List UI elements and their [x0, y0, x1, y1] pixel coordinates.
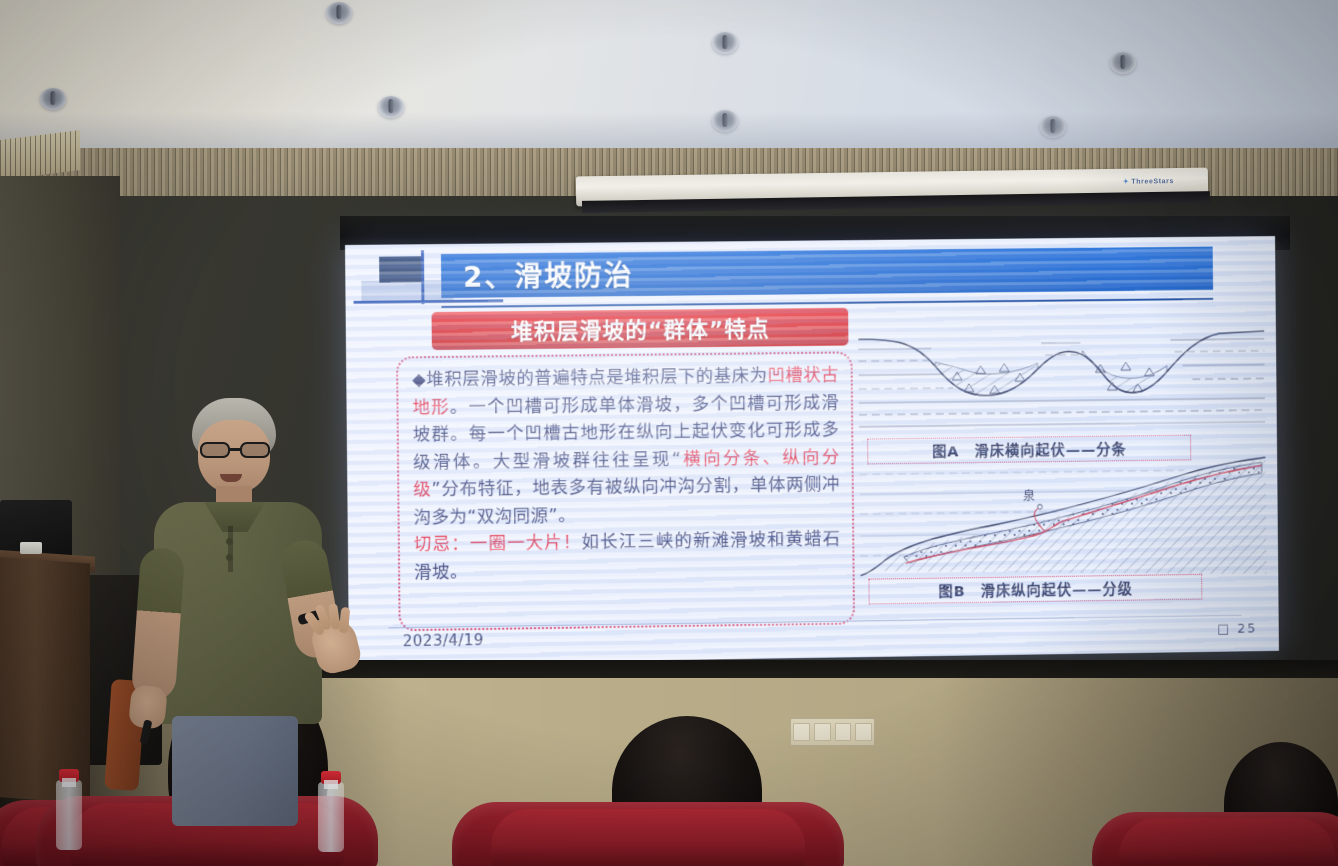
ceiling — [0, 0, 1338, 152]
wall-outlet-plate[interactable] — [790, 718, 875, 746]
presenter-polo-button — [226, 554, 233, 561]
ceiling-downlight — [40, 88, 66, 110]
ceiling-downlight — [1110, 52, 1136, 74]
ceiling-downlight — [378, 96, 404, 118]
lecture-hall-photo: ✦ThreeStars 2、滑坡防治 堆积层滑坡的“群体”特点 ◆堆积层滑坡的普… — [0, 0, 1338, 866]
presenter-glasses — [198, 442, 272, 458]
slide-title-bar: 2、滑坡防治 — [441, 247, 1213, 298]
slide-footer-page-number: □ 25 — [1217, 622, 1257, 637]
water-bottle[interactable] — [56, 780, 82, 850]
outlet-socket[interactable] — [835, 723, 852, 741]
figure-b-caption-box: 图B 滑床纵向起伏——分级 — [868, 574, 1202, 605]
seat-cushion — [1119, 818, 1335, 866]
slide-title: 2、滑坡防治 — [441, 254, 634, 296]
title-decoration-block — [379, 256, 423, 282]
projected-slide: 2、滑坡防治 堆积层滑坡的“群体”特点 ◆堆积层滑坡的普遍特点是堆积层下的基床为… — [345, 236, 1279, 665]
presenter-polo-button — [226, 538, 233, 545]
brand-dot-icon: ✦ — [1123, 179, 1130, 186]
bottle-neck — [62, 778, 76, 787]
lectern — [0, 557, 90, 804]
water-bottle[interactable] — [318, 782, 344, 852]
title-decoration-vline — [421, 250, 425, 304]
screen-brand-label: ✦ThreeStars — [1123, 177, 1174, 186]
glasses-lens-right — [240, 442, 270, 458]
slide-footer-date: 2023/4/19 — [403, 631, 484, 650]
seat-cushion — [491, 809, 805, 866]
figure-a-diagram — [858, 327, 1265, 443]
title-decoration-hline — [354, 299, 504, 304]
title-decoration-ghost — [361, 280, 453, 301]
figure-b-spring-label: 泉 — [1023, 489, 1035, 503]
figure-a-caption-box: 图A 滑床横向起伏——分条 — [867, 435, 1191, 465]
glasses-bridge — [230, 448, 240, 451]
lectern-cup — [20, 542, 42, 554]
body-quote-open: “ — [672, 449, 682, 469]
auditorium-seat — [452, 802, 844, 866]
body-line2b: 分布特征，地表多有被纵向冲沟分割，单体两侧冲沟多为“双沟同源”。 — [413, 475, 840, 528]
slide-title-underline — [441, 298, 1213, 308]
outlet-socket[interactable] — [855, 723, 872, 741]
slide-body-textbox: ◆堆积层滑坡的普遍特点是堆积层下的基床为凹槽状古地形。一个凹槽可形成单体滑坡，多… — [396, 351, 855, 631]
ceiling-downlight — [1040, 116, 1066, 138]
auditorium-seat — [1092, 812, 1338, 866]
figure-a-caption: 图A 滑床横向起伏——分条 — [932, 438, 1127, 461]
slide-subtitle-banner: 堆积层滑坡的“群体”特点 — [432, 308, 849, 350]
figure-b-diagram: 泉 — [859, 455, 1266, 579]
ceiling-downlight — [712, 110, 738, 132]
body-line3-highlight: 切忌：一圈一大片！ — [414, 533, 582, 555]
body-quote-close: ” — [431, 480, 441, 500]
presenter — [128, 398, 368, 818]
slide-body-paragraph: ◆堆积层滑坡的普遍特点是堆积层下的基床为凹槽状古地形。一个凹槽可形成单体滑坡，多… — [412, 362, 841, 587]
hand-finger — [339, 607, 351, 634]
slide-subtitle: 堆积层滑坡的“群体”特点 — [511, 312, 770, 347]
presenter-polo-placket — [228, 526, 233, 572]
ceiling-downlight — [712, 32, 738, 54]
presenter-trousers — [172, 716, 298, 826]
outlet-socket[interactable] — [814, 723, 831, 741]
outlet-socket[interactable] — [793, 723, 810, 741]
bottle-neck — [324, 780, 338, 789]
ceiling-downlight — [326, 2, 352, 24]
slide-canvas: 2、滑坡防治 堆积层滑坡的“群体”特点 ◆堆积层滑坡的普遍特点是堆积层下的基床为… — [345, 236, 1279, 665]
figure-b-caption: 图B 滑床纵向起伏——分级 — [938, 577, 1133, 601]
body-line1a: ◆堆积层滑坡的普遍特点是堆积层下的基床为 — [412, 366, 767, 390]
glasses-lens-left — [200, 442, 230, 458]
